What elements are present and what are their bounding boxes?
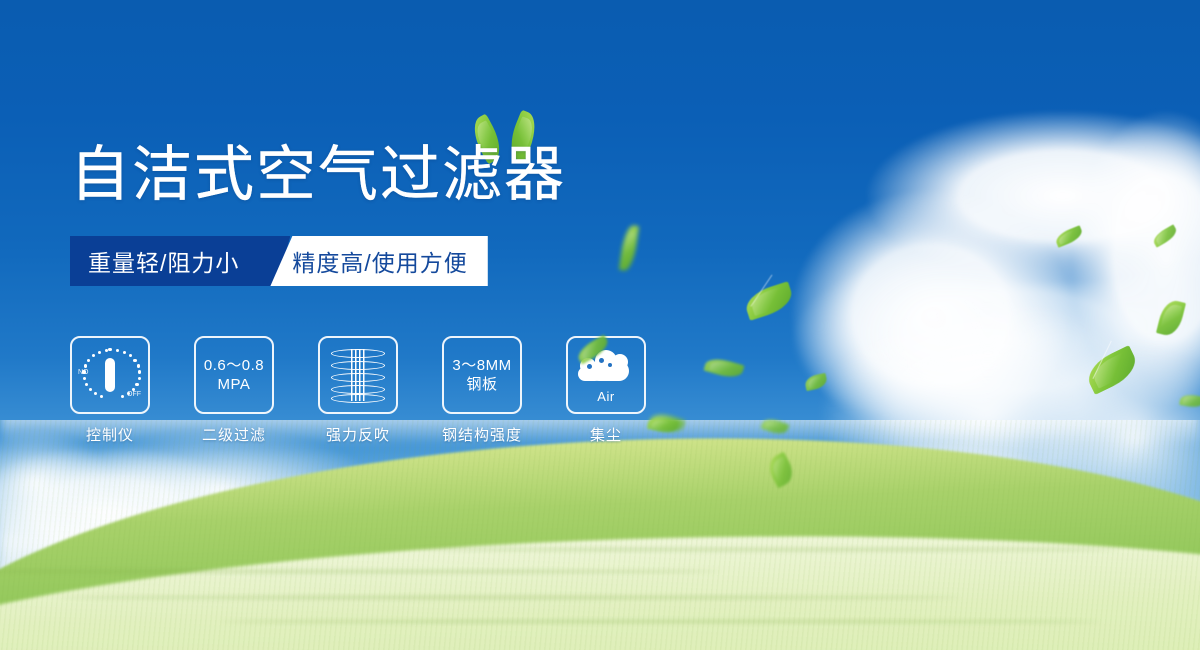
feature-icon-box: 0.6～0.8 MPA bbox=[194, 336, 274, 414]
filter-stack-icon bbox=[331, 347, 385, 403]
page-title: 自洁式空气过滤器 bbox=[70, 144, 566, 206]
feature-icon-box: NO OFF bbox=[70, 336, 150, 414]
steel-plate-icon: 3～8MM 钢板 bbox=[452, 356, 511, 394]
feature-label: 控制仪 bbox=[70, 424, 150, 445]
dial-on-label: NO bbox=[78, 369, 89, 376]
banner-content: 自洁式空气过滤器 重量轻/阻力小 精度高/使用方便 bbox=[0, 0, 1200, 650]
feature-item-dust-collection[interactable]: Air 集尘 bbox=[566, 336, 646, 445]
cloud-cutout bbox=[608, 363, 612, 367]
steel-material-text: 钢板 bbox=[452, 375, 511, 394]
feature-icon-box: Air bbox=[566, 336, 646, 414]
pressure-value-icon: 0.6～0.8 MPA bbox=[204, 356, 264, 394]
feature-label: 集尘 bbox=[566, 424, 646, 445]
air-label: Air bbox=[575, 389, 637, 404]
feature-label: 二级过滤 bbox=[194, 424, 274, 445]
feature-item-controller[interactable]: NO OFF 控制仪 bbox=[70, 336, 150, 445]
cloud-shape-small bbox=[578, 367, 602, 381]
feature-item-two-stage-filter[interactable]: 0.6～0.8 MPA 二级过滤 bbox=[194, 336, 274, 445]
cloud-cutout bbox=[599, 358, 604, 363]
feature-item-steel-strength[interactable]: 3～8MM 钢板 钢结构强度 bbox=[442, 336, 522, 445]
pressure-unit-text: MPA bbox=[204, 375, 264, 394]
stack-ring bbox=[331, 385, 385, 394]
stack-ring bbox=[331, 349, 385, 358]
stack-ring bbox=[331, 394, 385, 403]
subtitle-bar: 重量轻/阻力小 精度高/使用方便 bbox=[70, 236, 488, 286]
cloud-cutout bbox=[587, 364, 592, 369]
dial-gauge-icon: NO OFF bbox=[79, 346, 141, 404]
feature-icon-box bbox=[318, 336, 398, 414]
subtitle-right: 精度高/使用方便 bbox=[270, 236, 487, 286]
feature-label: 强力反吹 bbox=[318, 424, 398, 445]
feature-label: 钢结构强度 bbox=[442, 424, 522, 445]
dial-off-label: OFF bbox=[127, 391, 141, 398]
dial-needle bbox=[105, 358, 115, 392]
steel-thickness-text: 3～8MM bbox=[452, 356, 511, 375]
product-banner: 自洁式空气过滤器 重量轻/阻力小 精度高/使用方便 bbox=[0, 0, 1200, 650]
feature-list: NO OFF 控制仪 0.6～0.8 MPA 二级过滤 bbox=[70, 336, 646, 445]
feature-icon-box: 3～8MM 钢板 bbox=[442, 336, 522, 414]
subtitle-left: 重量轻/阻力小 bbox=[70, 236, 257, 286]
stack-ring bbox=[331, 361, 385, 370]
pressure-range-text: 0.6～0.8 bbox=[204, 356, 264, 375]
stack-ring bbox=[331, 373, 385, 382]
feature-item-backblow[interactable]: 强力反吹 bbox=[318, 336, 398, 445]
